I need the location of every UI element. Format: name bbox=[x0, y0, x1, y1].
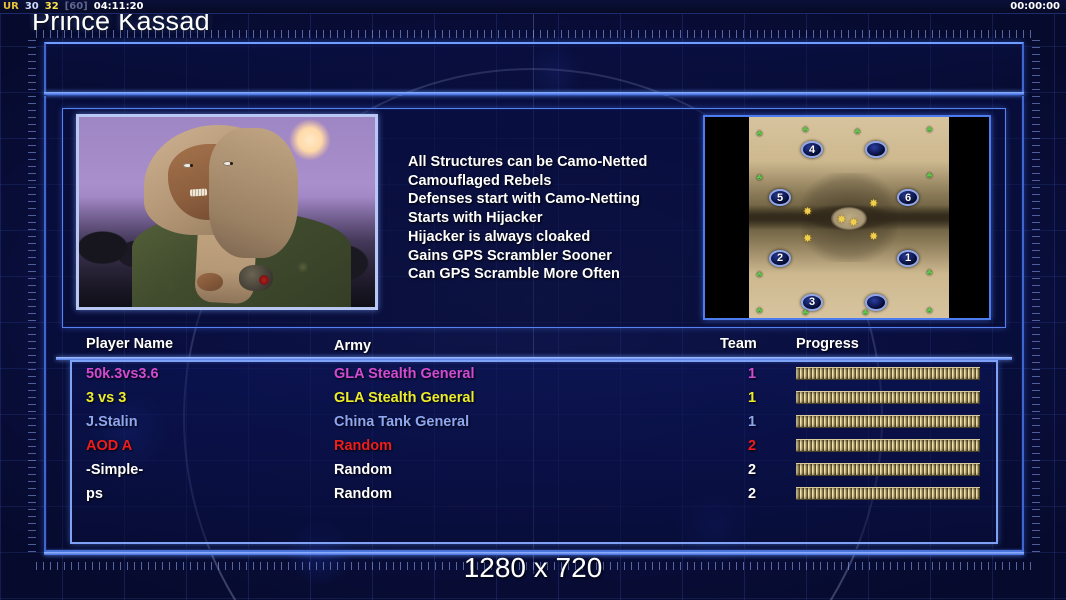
status-timer: 00:00:00 bbox=[1010, 1, 1066, 12]
status-elapsed: 04:11:20 bbox=[91, 0, 147, 14]
oil-derrick-icon: ♣ bbox=[801, 308, 810, 317]
oil-derrick-icon: ♣ bbox=[801, 125, 810, 134]
cell-player-name: ps bbox=[86, 482, 103, 506]
portrait-image bbox=[79, 117, 375, 307]
progress-bar bbox=[796, 463, 980, 476]
oil-derrick-icon: ♣ bbox=[755, 173, 764, 182]
cell-progress bbox=[796, 367, 980, 380]
supply-pile-icon: ✸ bbox=[849, 218, 858, 229]
cell-player-name: J.Stalin bbox=[86, 410, 138, 434]
oil-derrick-icon: ♣ bbox=[755, 306, 764, 315]
status-value-b: 32 bbox=[42, 0, 62, 14]
ability-line: Can GPS Scramble More Often bbox=[408, 265, 708, 284]
map-start-position[interactable]: 5 bbox=[769, 189, 791, 206]
oil-derrick-icon: ♣ bbox=[925, 306, 934, 315]
game-lobby-screen: UR 30 32 [60] 04:11:20 00:00:00 Prince K… bbox=[0, 0, 1066, 600]
ability-line: Hijacker is always cloaked bbox=[408, 228, 708, 247]
cell-army: China Tank General bbox=[334, 410, 469, 434]
ruler-right bbox=[1032, 40, 1040, 556]
table-row[interactable]: -Simple-Random2 bbox=[70, 458, 998, 482]
status-label: UR bbox=[0, 0, 22, 14]
supply-pile-icon: ✸ bbox=[869, 232, 878, 243]
cell-army: Random bbox=[334, 434, 392, 458]
table-row[interactable]: 50k.3vs3.6GLA Stealth General1 bbox=[70, 362, 998, 386]
portrait-headwrap-side bbox=[209, 128, 298, 257]
cell-player-name: 3 vs 3 bbox=[86, 386, 126, 410]
supply-pile-icon: ✸ bbox=[869, 199, 878, 210]
cell-player-name: -Simple- bbox=[86, 458, 143, 482]
ability-line: Starts with Hijacker bbox=[408, 209, 708, 228]
status-bar: UR 30 32 [60] 04:11:20 00:00:00 bbox=[0, 0, 1066, 14]
cell-team: 2 bbox=[742, 482, 762, 506]
ability-line: Gains GPS Scrambler Sooner bbox=[408, 247, 708, 266]
column-header-progress: Progress bbox=[796, 336, 859, 352]
cell-team: 1 bbox=[742, 362, 762, 386]
cell-progress bbox=[796, 415, 980, 428]
header-divider bbox=[44, 92, 1024, 95]
oil-derrick-icon: ♣ bbox=[853, 127, 862, 136]
portrait-hand bbox=[197, 273, 223, 291]
progress-bar bbox=[796, 367, 980, 380]
status-value-a: 30 bbox=[22, 0, 42, 14]
map-start-position[interactable]: 6 bbox=[897, 189, 919, 206]
progress-bar bbox=[796, 439, 980, 452]
oil-derrick-icon: ♣ bbox=[925, 268, 934, 277]
header-panel bbox=[44, 42, 1024, 94]
cell-player-name: 50k.3vs3.6 bbox=[86, 362, 159, 386]
oil-derrick-icon: ♣ bbox=[755, 270, 764, 279]
cell-team: 1 bbox=[742, 410, 762, 434]
table-header-row: Player Name Army Team Progress bbox=[62, 336, 1006, 356]
map-preview[interactable]: 456213 ♣♣♣♣♣♣♣♣♣♣♣♣ ✸✸✸✸✸✸ bbox=[703, 115, 991, 320]
ability-line: Defenses start with Camo-Netting bbox=[408, 190, 708, 209]
cell-progress bbox=[796, 463, 980, 476]
cell-team: 2 bbox=[742, 434, 762, 458]
oil-derrick-icon: ♣ bbox=[925, 125, 934, 134]
cell-army: Random bbox=[334, 482, 392, 506]
cell-team: 2 bbox=[742, 458, 762, 482]
status-value-c: [60] bbox=[62, 0, 91, 14]
map-start-position[interactable] bbox=[865, 141, 887, 158]
ability-line: All Structures can be Camo-Netted bbox=[408, 153, 708, 172]
supply-pile-icon: ✸ bbox=[803, 234, 812, 245]
supply-pile-icon: ✸ bbox=[803, 207, 812, 218]
general-abilities-list: All Structures can be Camo-Netted Camouf… bbox=[408, 153, 708, 284]
cell-army: GLA Stealth General bbox=[334, 362, 474, 386]
table-row[interactable]: psRandom2 bbox=[70, 482, 998, 506]
ability-line: Camouflaged Rebels bbox=[408, 172, 708, 191]
map-start-position[interactable]: 4 bbox=[801, 141, 823, 158]
supply-pile-icon: ✸ bbox=[837, 215, 846, 226]
portrait-pupil-right bbox=[230, 162, 233, 165]
map-start-position[interactable]: 2 bbox=[769, 250, 791, 267]
column-header-team: Team bbox=[720, 336, 757, 352]
progress-bar bbox=[796, 415, 980, 428]
cell-army: Random bbox=[334, 458, 392, 482]
column-header-army: Army bbox=[334, 338, 371, 354]
map-terrain: 456213 ♣♣♣♣♣♣♣♣♣♣♣♣ ✸✸✸✸✸✸ bbox=[749, 117, 949, 318]
cell-army: GLA Stealth General bbox=[334, 386, 474, 410]
oil-derrick-icon: ♣ bbox=[755, 129, 764, 138]
oil-derrick-icon: ♣ bbox=[861, 308, 870, 317]
player-list: 50k.3vs3.6GLA Stealth General13 vs 3GLA … bbox=[70, 362, 998, 506]
progress-bar bbox=[796, 391, 980, 404]
portrait-canteen bbox=[239, 265, 273, 291]
cell-player-name: AOD A bbox=[86, 434, 132, 458]
column-header-player-name: Player Name bbox=[86, 336, 173, 352]
table-row[interactable]: J.StalinChina Tank General1 bbox=[70, 410, 998, 434]
cell-team: 1 bbox=[742, 386, 762, 410]
cell-progress bbox=[796, 391, 980, 404]
table-header-divider bbox=[56, 357, 1012, 360]
general-portrait bbox=[76, 114, 378, 310]
cell-progress bbox=[796, 439, 980, 452]
table-row[interactable]: AOD ARandom2 bbox=[70, 434, 998, 458]
resolution-label: 1280 x 720 bbox=[0, 552, 1066, 584]
ruler-left bbox=[28, 40, 36, 556]
cell-progress bbox=[796, 487, 980, 500]
table-row[interactable]: 3 vs 3GLA Stealth General1 bbox=[70, 386, 998, 410]
map-start-position[interactable]: 1 bbox=[897, 250, 919, 267]
oil-derrick-icon: ♣ bbox=[925, 171, 934, 180]
progress-bar bbox=[796, 487, 980, 500]
portrait-teeth bbox=[190, 189, 207, 197]
